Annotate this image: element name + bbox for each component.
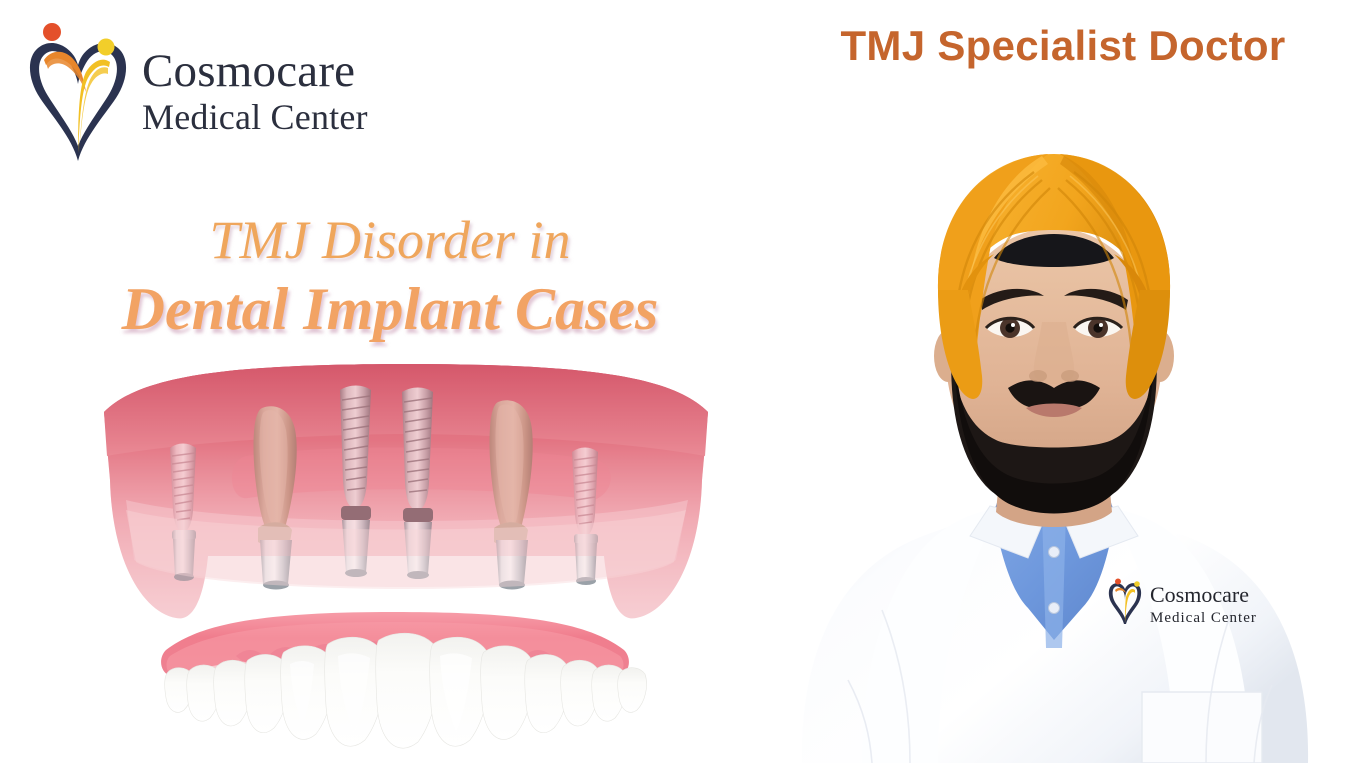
full-arch-denture-illustration [140, 600, 650, 763]
poster-title-line1: TMJ Disorder in [70, 212, 710, 269]
poster-canvas: Cosmocare Medical Center TMJ Specialist … [0, 0, 1366, 763]
logo-dot-yellow [98, 39, 115, 56]
poster-title-line2: Dental Implant Cases [70, 275, 710, 344]
brand-wordmark: Cosmocare Medical Center [142, 48, 368, 140]
coat-chest-pocket [1142, 692, 1262, 763]
badge-brand-primary: Cosmocare [1150, 582, 1249, 607]
badge-brand-secondary: Medical Center [1150, 610, 1257, 626]
brand-logo[interactable]: Cosmocare Medical Center [22, 20, 372, 168]
brand-name-secondary: Medical Center [142, 95, 368, 140]
dental-implant-arch-illustration [96, 360, 716, 635]
poster-title: TMJ Disorder in Dental Implant Cases [70, 212, 710, 344]
heart-two-figures-icon [22, 20, 134, 168]
brand-name-primary: Cosmocare [142, 48, 368, 95]
page-headline: TMJ Specialist Doctor [760, 22, 1366, 70]
doctor-portrait-photo: Cosmocare Medical Center [742, 140, 1366, 763]
logo-dot-orange [43, 23, 61, 41]
